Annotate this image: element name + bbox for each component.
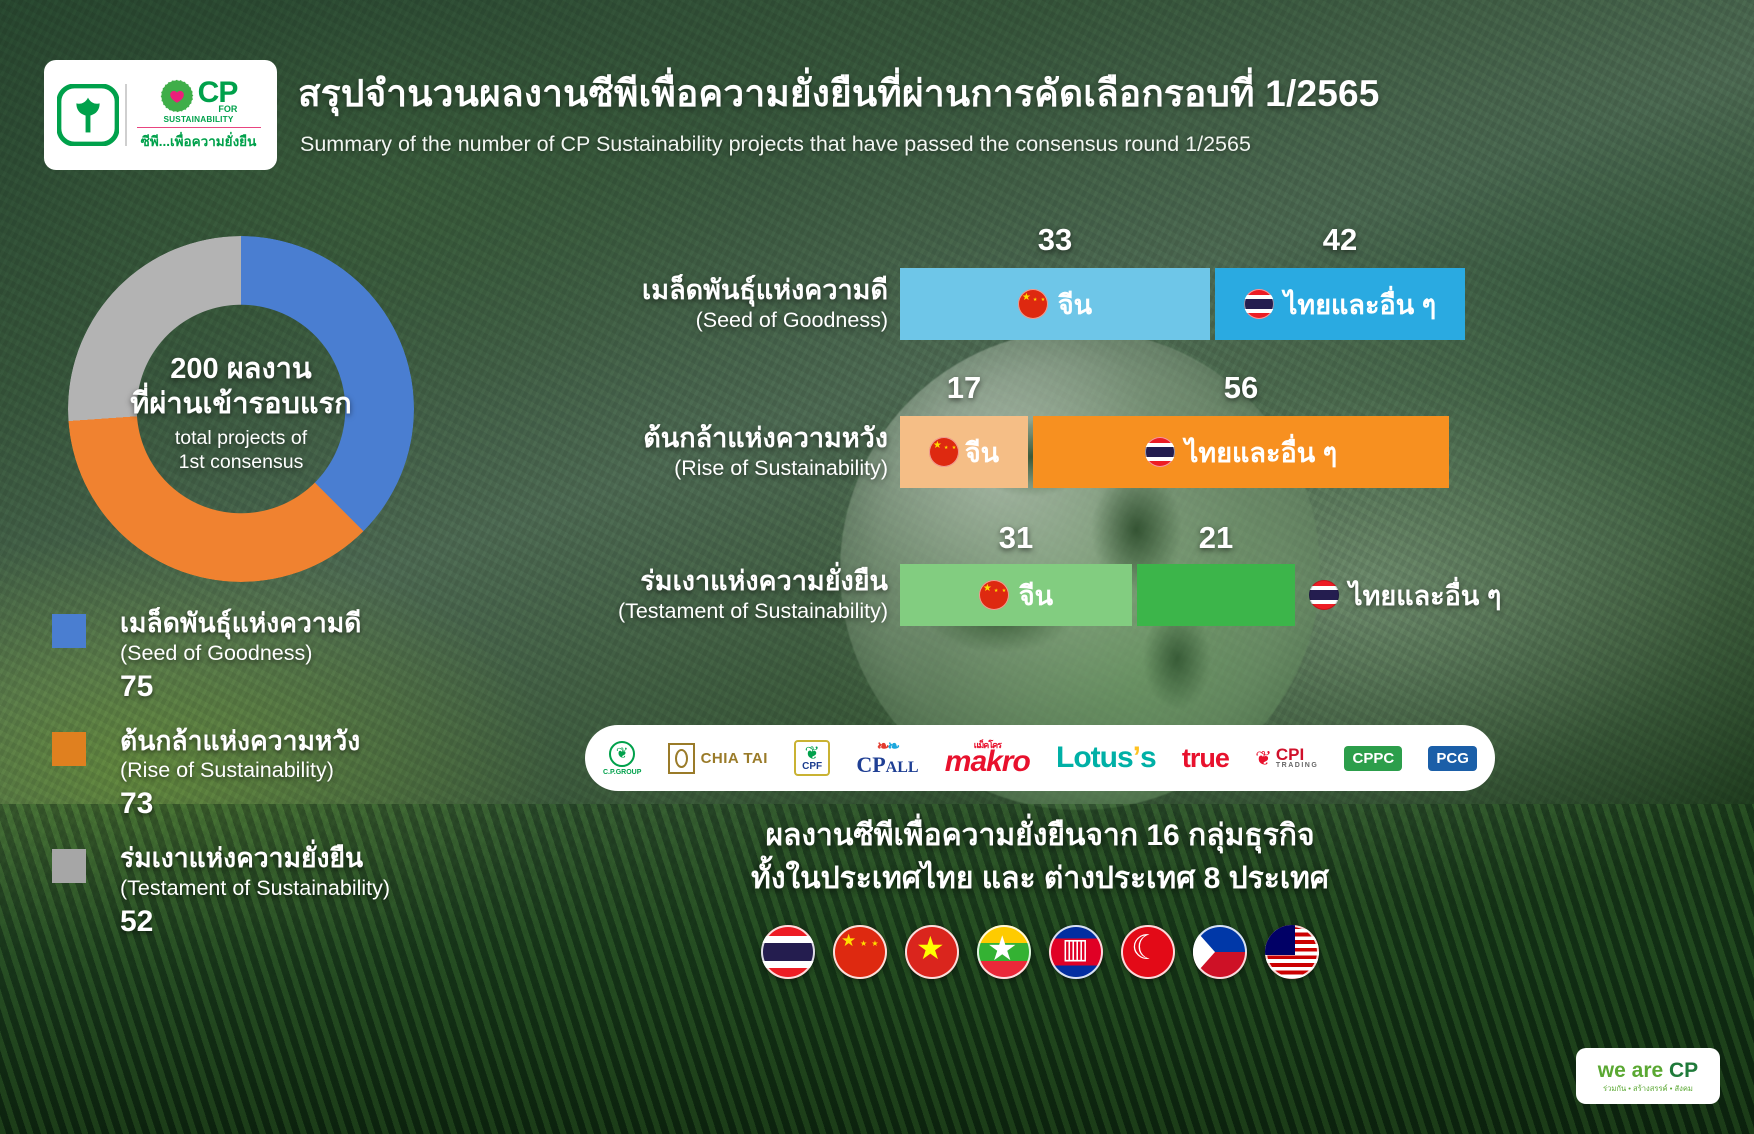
legend-label-english: (Testament of Sustainability) [120, 875, 472, 902]
cppc-logo: CPPC [1344, 746, 1402, 771]
bar-value-label: 17 [900, 370, 1028, 406]
legend-item: ต้นกล้าแห่งความหวัง (Rise of Sustainabil… [52, 726, 472, 824]
bar-segment-thailand[interactable]: 56 ไทยและอื่น ๆ [1033, 416, 1449, 488]
philippines-flag-icon [1193, 925, 1247, 979]
bar-value-label: 42 [1215, 222, 1465, 258]
bar-label-thai: ร่มเงาแห่งความยั่งยืน [460, 565, 888, 597]
vietnam-flag-icon [905, 925, 959, 979]
bar-label-thai: ต้นกล้าแห่งความหวัง [560, 422, 888, 454]
thailand-flag-icon [1244, 289, 1274, 319]
bar-segment-name: จีน [1019, 574, 1053, 617]
bar-label-english: (Testament of Sustainability) [460, 598, 888, 625]
legend-value: 73 [120, 784, 472, 823]
cpi-leaf-icon: ❦ [1255, 746, 1272, 771]
donut-sub-line2: 1st consensus [44, 451, 438, 475]
bar-segment-thailand[interactable]: 42 ไทยและอื่น ๆ [1215, 268, 1465, 340]
legend-label-english: (Seed of Goodness) [120, 640, 472, 667]
footer-summary-text: ผลงานซีพีเพื่อความยั่งยืนจาก 16 กลุ่มธุร… [560, 815, 1520, 900]
cp-group-logo-icon [57, 84, 119, 146]
legend-label-thai: ร่มเงาแห่งความยั่งยืน [120, 843, 472, 875]
cp-group-mark-icon: ❦ [609, 741, 635, 767]
bar-row-label: เมล็ดพันธุ์แห่งความดี (Seed of Goodness) [560, 274, 900, 333]
makro-logo: แม็คโคร makro [945, 742, 1030, 773]
legend-label-thai: ต้นกล้าแห่งความหวัง [120, 726, 472, 758]
cp-sustainability-thai-label: ซีพี...เพื่อความยั่งยืน [141, 130, 257, 152]
we-are-cp-logo: we are CP ร่วมกัน • สร้างสรรค์ • สังคม [1576, 1048, 1720, 1104]
bar-segment-china[interactable]: 33 จีน [900, 268, 1210, 340]
legend-swatch-seed [52, 614, 86, 648]
legend-item: เมล็ดพันธุ์แห่งความดี (Seed of Goodness)… [52, 608, 472, 706]
legend-swatch-rise [52, 732, 86, 766]
bar-row-label: ร่มเงาแห่งความยั่งยืน (Testament of Sust… [460, 565, 900, 624]
country-flag-row [760, 925, 1320, 979]
cpf-mark-icon: ❦ [805, 744, 820, 762]
bar-value-label: 21 [1137, 520, 1295, 556]
true-logo: true [1182, 743, 1229, 774]
bar-value-label: 56 [1033, 370, 1449, 406]
bar-segment-name: ไทยและอื่น ๆ [1284, 283, 1436, 326]
legend-swatch-testament [52, 849, 86, 883]
bar-label-english: (Rise of Sustainability) [560, 455, 888, 482]
cambodia-flag-icon [1049, 925, 1103, 979]
bar-label-english: (Seed of Goodness) [560, 307, 888, 334]
thailand-flag-icon [1309, 580, 1339, 610]
donut-center-label: 200 ผลงาน ที่ผ่านเข้ารอบแรก total projec… [44, 352, 438, 474]
myanmar-flag-icon [977, 925, 1031, 979]
thailand-flag-icon [1145, 437, 1175, 467]
legend-value: 75 [120, 667, 472, 706]
bar-row-rise-of-sustainability: ต้นกล้าแห่งความหวัง (Rise of Sustainabil… [560, 416, 1449, 488]
footer-line-2: ทั้งในประเทศไทย และ ต่างประเทศ 8 ประเทศ [560, 858, 1520, 901]
donut-total-line2: ที่ผ่านเข้ารอบแรก [44, 387, 438, 422]
pcg-logo: PCG [1428, 746, 1477, 771]
page-title-english: Summary of the number of CP Sustainabili… [300, 132, 1540, 157]
cp-sustainability-emblem-icon [160, 79, 194, 113]
cp-logo-rule [137, 127, 261, 129]
cp-sustainability-label: SUSTAINABILITY [164, 115, 234, 124]
china-flag-icon [979, 580, 1009, 610]
bar-row-label: ต้นกล้าแห่งความหวัง (Rise of Sustainabil… [560, 422, 900, 481]
thailand-flag-icon [761, 925, 815, 979]
chia-tai-logo: CHIA TAI [668, 743, 768, 774]
donut-chart: 200 ผลงาน ที่ผ่านเข้ารอบแรก total projec… [68, 236, 414, 582]
stacked-bar: 33 จีน 42 ไทยและอื่น ๆ [900, 268, 1465, 340]
bar-segment-name: ไทยและอื่น ๆ [1349, 574, 1501, 617]
bar-value-label: 33 [900, 222, 1210, 258]
bar-segment-name: จีน [965, 431, 999, 474]
cp-group-logo: ❦ C.P.GROUP [603, 741, 641, 776]
legend-label-english: (Rise of Sustainability) [120, 757, 472, 784]
donut-sub-line1: total projects of [44, 427, 438, 451]
logo-divider [125, 84, 127, 146]
lotuss-logo: Lotus’s [1056, 741, 1156, 775]
turkey-flag-icon [1121, 925, 1175, 979]
legend-value: 52 [120, 902, 472, 941]
malaysia-flag-icon [1265, 925, 1319, 979]
bar-segment-thailand[interactable]: 21 [1137, 564, 1295, 626]
cp-logo-card: CP FOR SUSTAINABILITY ซีพี...เพื่อความยั… [44, 60, 277, 170]
cpi-trading-logo: ❦ CPITRADING [1255, 746, 1318, 771]
bar-row-testament-of-sustainability: ร่มเงาแห่งความยั่งยืน (Testament of Sust… [460, 564, 1501, 626]
stacked-bar: 17 จีน 56 ไทยและอื่น ๆ [900, 416, 1449, 488]
chia-tai-mark-icon [668, 743, 695, 774]
bar-label-thai: เมล็ดพันธุ์แห่งความดี [560, 274, 888, 306]
bar-segment-china[interactable]: 31 จีน [900, 564, 1132, 626]
page-title-thai: สรุปจำนวนผลงานซีพีเพื่อความยั่งยืนที่ผ่า… [298, 72, 1508, 116]
partner-logo-strip: ❦ C.P.GROUP CHIA TAI ❦ CPF ❧❧ CPALL แม็ค… [585, 725, 1495, 791]
we-are-cp-tagline: ร่วมกัน • สร้างสรรค์ • สังคม [1603, 1085, 1693, 1093]
bar-segment-name: ไทยและอื่น ๆ [1185, 431, 1337, 474]
china-flag-icon [929, 437, 959, 467]
cpf-logo: ❦ CPF [794, 740, 830, 776]
cp-for-label: FOR [218, 105, 237, 114]
cpall-logo: ❧❧ CPALL [856, 740, 918, 775]
bar-segment-outside-label: ไทยและอื่น ๆ [1309, 574, 1501, 617]
chart-legend: เมล็ดพันธุ์แห่งความดี (Seed of Goodness)… [52, 608, 472, 961]
bar-segment-name: จีน [1058, 283, 1092, 326]
legend-item: ร่มเงาแห่งความยั่งยืน (Testament of Sust… [52, 843, 472, 941]
bar-value-label: 31 [900, 520, 1132, 556]
stacked-bar: 31 จีน 21 ไทยและอื่น ๆ [900, 564, 1501, 626]
footer-line-1: ผลงานซีพีเพื่อความยั่งยืนจาก 16 กลุ่มธุร… [560, 815, 1520, 858]
bar-row-seed-of-goodness: เมล็ดพันธุ์แห่งความดี (Seed of Goodness)… [560, 268, 1465, 340]
china-flag-icon [1018, 289, 1048, 319]
legend-label-thai: เมล็ดพันธุ์แห่งความดี [120, 608, 472, 640]
china-flag-icon [833, 925, 887, 979]
donut-total-line1: 200 ผลงาน [44, 352, 438, 387]
bar-segment-china[interactable]: 17 จีน [900, 416, 1028, 488]
